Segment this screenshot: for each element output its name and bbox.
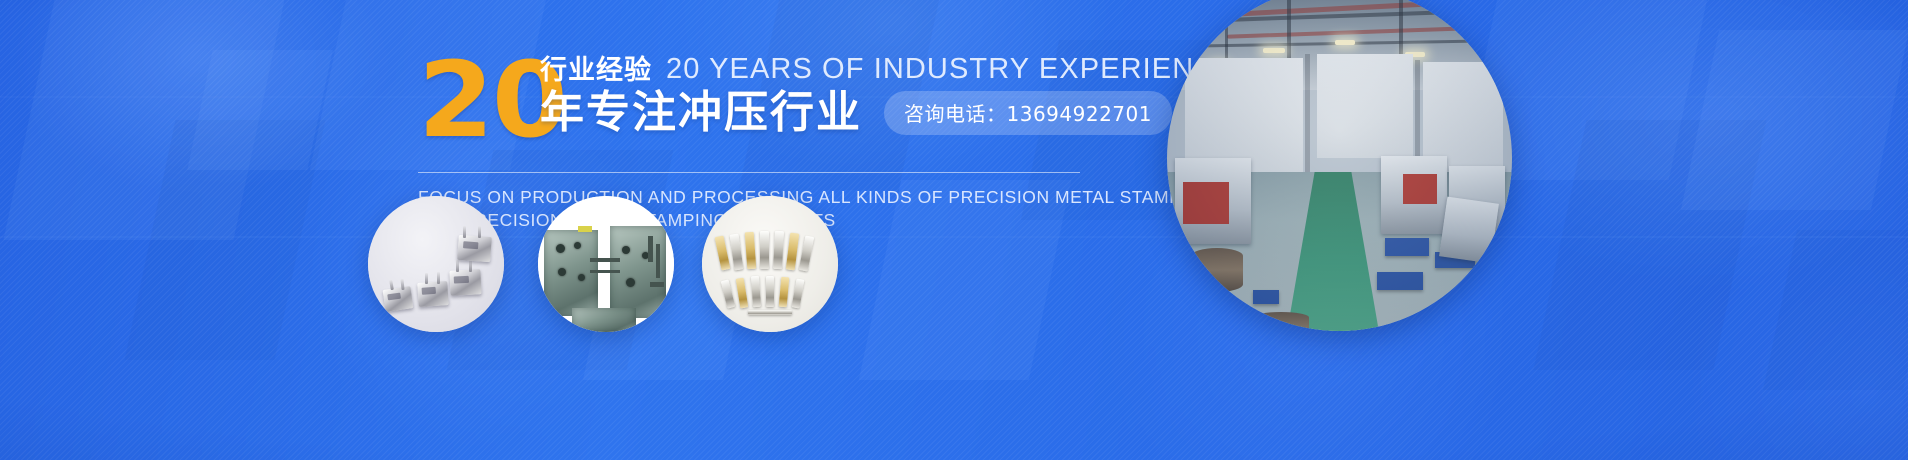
headline-cn-small: 行业经验 bbox=[540, 57, 652, 84]
factory-photo-circle bbox=[1167, 0, 1512, 331]
headline-cn-big: 年专注冲压行业 bbox=[540, 90, 862, 136]
product-circle-terminal-pins bbox=[702, 196, 838, 332]
headline-en-years: 20 YEARS OF INDUSTRY EXPERIENCE bbox=[666, 55, 1237, 84]
headline-line-1: 行业经验 20 YEARS OF INDUSTRY EXPERIENCE bbox=[540, 42, 1237, 84]
product-circle-connectors bbox=[368, 196, 504, 332]
headline-group: 20 行业经验 20 YEARS OF INDUSTRY EXPERIENCE … bbox=[418, 42, 1138, 154]
divider-line bbox=[418, 172, 1080, 173]
headline-line-2: 年专注冲压行业 咨询电话：13694922701 bbox=[540, 90, 1237, 136]
product-circle-stamping-die bbox=[538, 196, 674, 332]
headline-right: 行业经验 20 YEARS OF INDUSTRY EXPERIENCE 年专注… bbox=[540, 42, 1237, 136]
promo-banner: 20 行业经验 20 YEARS OF INDUSTRY EXPERIENCE … bbox=[0, 0, 1908, 460]
phone-badge[interactable]: 咨询电话：13694922701 bbox=[884, 91, 1172, 135]
